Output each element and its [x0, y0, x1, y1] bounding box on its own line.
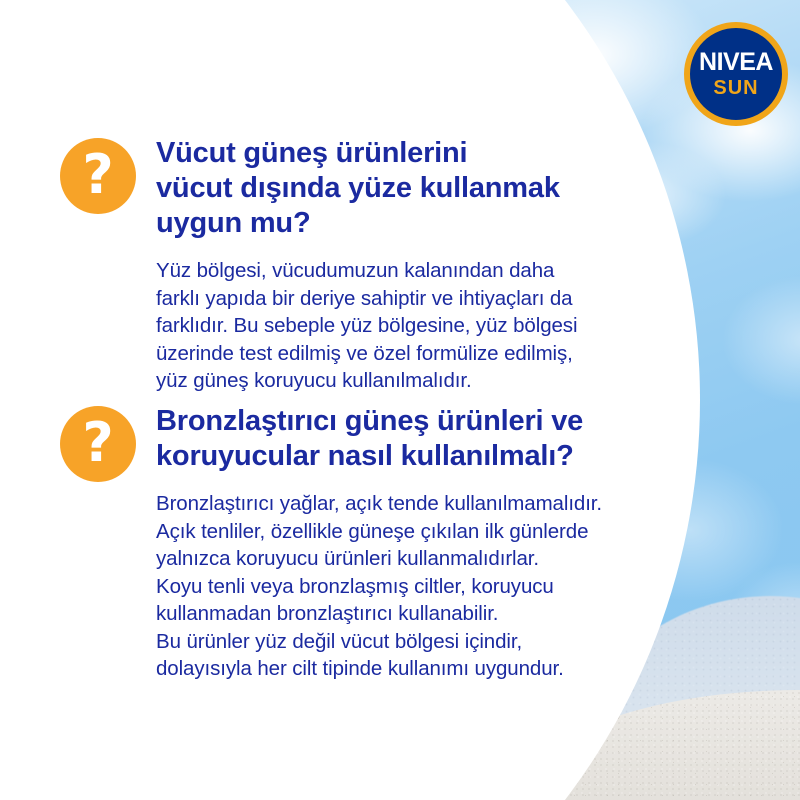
nivea-sun-logo: NIVEA SUN: [684, 22, 788, 126]
faq-item-2-body: Bronzlaştırıcı güneş ürünleri ve koruyuc…: [156, 404, 680, 683]
faq-answer-1: Yüz bölgesi, vücudumuzun kalanından daha…: [156, 257, 680, 395]
faq-question-2: Bronzlaştırıcı güneş ürünleri ve koruyuc…: [156, 404, 680, 474]
cloud-shape: [690, 250, 800, 430]
question-mark-icon: ?: [60, 406, 136, 482]
faq-answer-2: Bronzlaştırıcı yağlar, açık tende kullan…: [156, 490, 680, 683]
logo-wordmark-nivea: NIVEA: [699, 50, 773, 75]
question-mark-glyph: ?: [60, 138, 136, 214]
faq-item-1: ? Vücut güneş ürünlerini vücut dışında y…: [60, 136, 680, 395]
faq-item-1-body: Vücut güneş ürünlerini vücut dışında yüz…: [156, 136, 680, 395]
logo-wordmark-sun: SUN: [713, 78, 758, 98]
faq-question-1: Vücut güneş ürünlerini vücut dışında yüz…: [156, 136, 680, 241]
question-mark-icon: ?: [60, 138, 136, 214]
question-mark-glyph: ?: [60, 406, 136, 482]
faq-infographic-canvas: NIVEA SUN ? Vücut güneş ürünlerini vücut…: [0, 0, 800, 800]
faq-item-2: ? Bronzlaştırıcı güneş ürünleri ve koruy…: [60, 404, 680, 683]
